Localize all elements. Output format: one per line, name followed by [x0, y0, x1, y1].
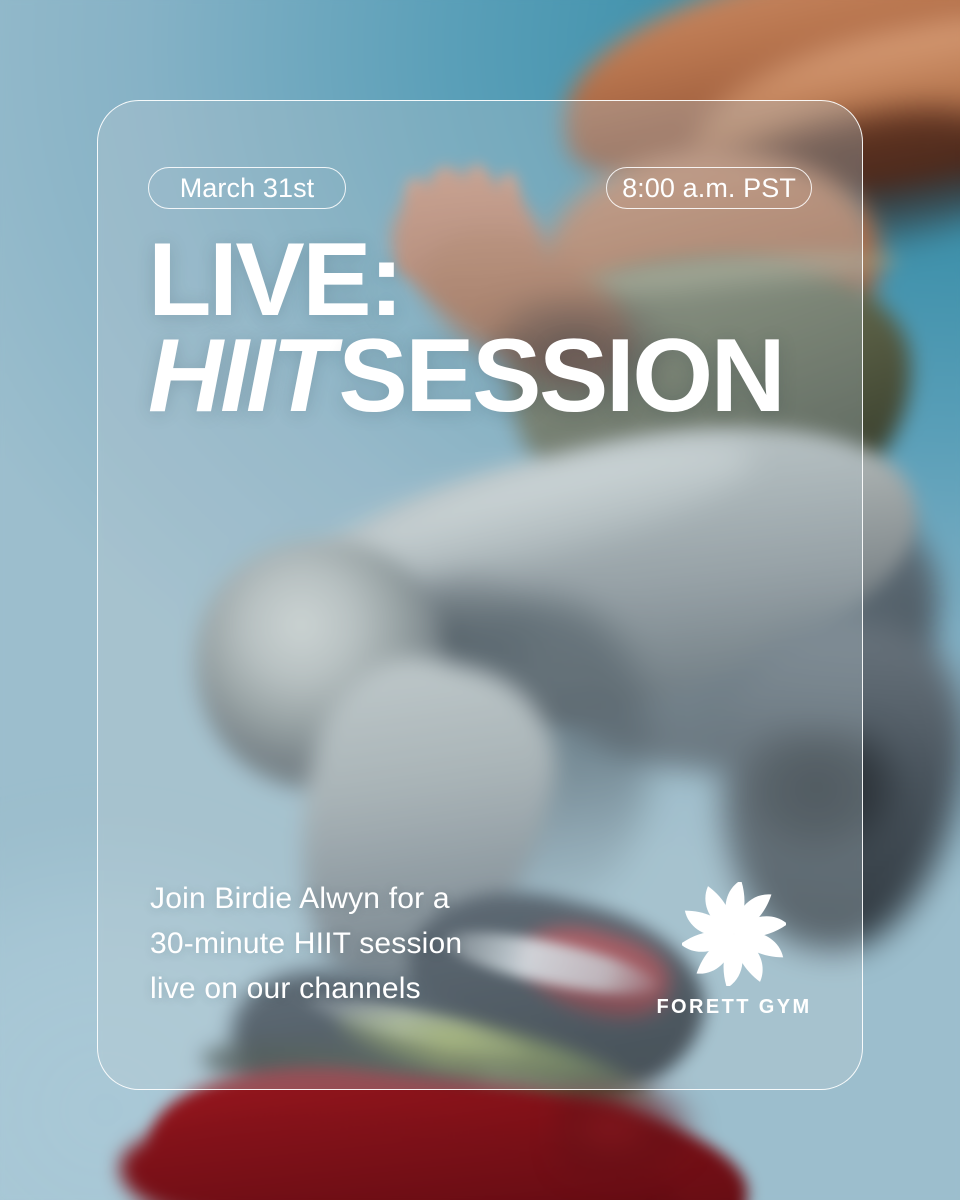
headline-hiit-emphasis: HIIT	[148, 318, 338, 434]
headline-line-live: LIVE:	[148, 233, 783, 329]
time-badge[interactable]: 8:00 a.m. PST	[606, 167, 812, 209]
sneaker-outsole-tip	[560, 1088, 730, 1188]
date-badge[interactable]: March 31st	[148, 167, 346, 209]
body-copy-line-3: live on our channels	[150, 966, 462, 1011]
headline-session-word: SESSION	[338, 318, 783, 434]
poster-canvas: March 31st 8:00 a.m. PST LIVE: HIITSESSI…	[0, 0, 960, 1200]
body-copy-line-2: 30-minute HIIT session	[150, 921, 462, 966]
brand-logo: FORETT GYM	[654, 882, 814, 1019]
glass-content-card: March 31st 8:00 a.m. PST LIVE: HIITSESSI…	[97, 100, 863, 1090]
brand-name: FORETT GYM	[656, 996, 811, 1019]
headline-line-session: HIITSESSION	[148, 329, 783, 425]
headline: LIVE: HIITSESSION	[148, 233, 783, 424]
body-copy-line-1: Join Birdie Alwyn for a	[150, 876, 462, 921]
body-copy: Join Birdie Alwyn for a 30-minute HIIT s…	[150, 876, 462, 1011]
pinwheel-spiral-icon	[682, 882, 786, 986]
